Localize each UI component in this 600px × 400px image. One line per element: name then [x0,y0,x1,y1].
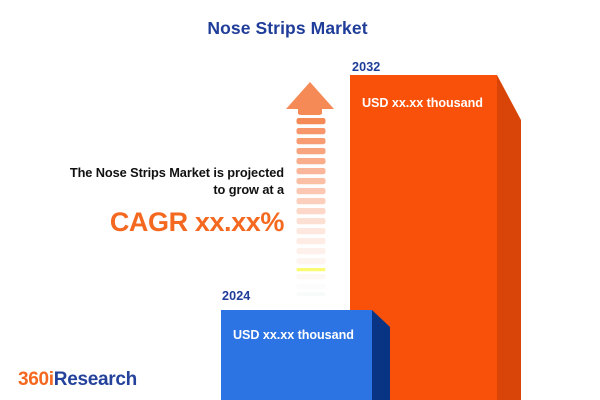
bar-2024 [221,310,391,400]
cagr-value: CAGR xx.xx% [10,207,284,237]
growth-arrow-icon [284,82,336,297]
narrative-line-1: The Nose Strips Market is projected [10,165,284,182]
narrative-line-2: to grow at a [10,182,284,199]
bar-value-label-2032: USD xx.xx thousand [362,96,483,110]
narrative-block: The Nose Strips Market is projected to g… [10,165,284,237]
year-label-2024: 2024 [222,289,250,303]
brand-logo: 360iResearch [18,369,137,391]
logo-prefix: 360i [18,369,54,390]
page-title: Nose Strips Market [0,18,575,39]
market-infographic: Nose Strips Market The Nose Strips Marke… [0,0,600,400]
logo-suffix: Research [54,369,137,390]
bar-value-label-2024: USD xx.xx thousand [233,328,354,342]
year-label-2032: 2032 [352,60,380,74]
